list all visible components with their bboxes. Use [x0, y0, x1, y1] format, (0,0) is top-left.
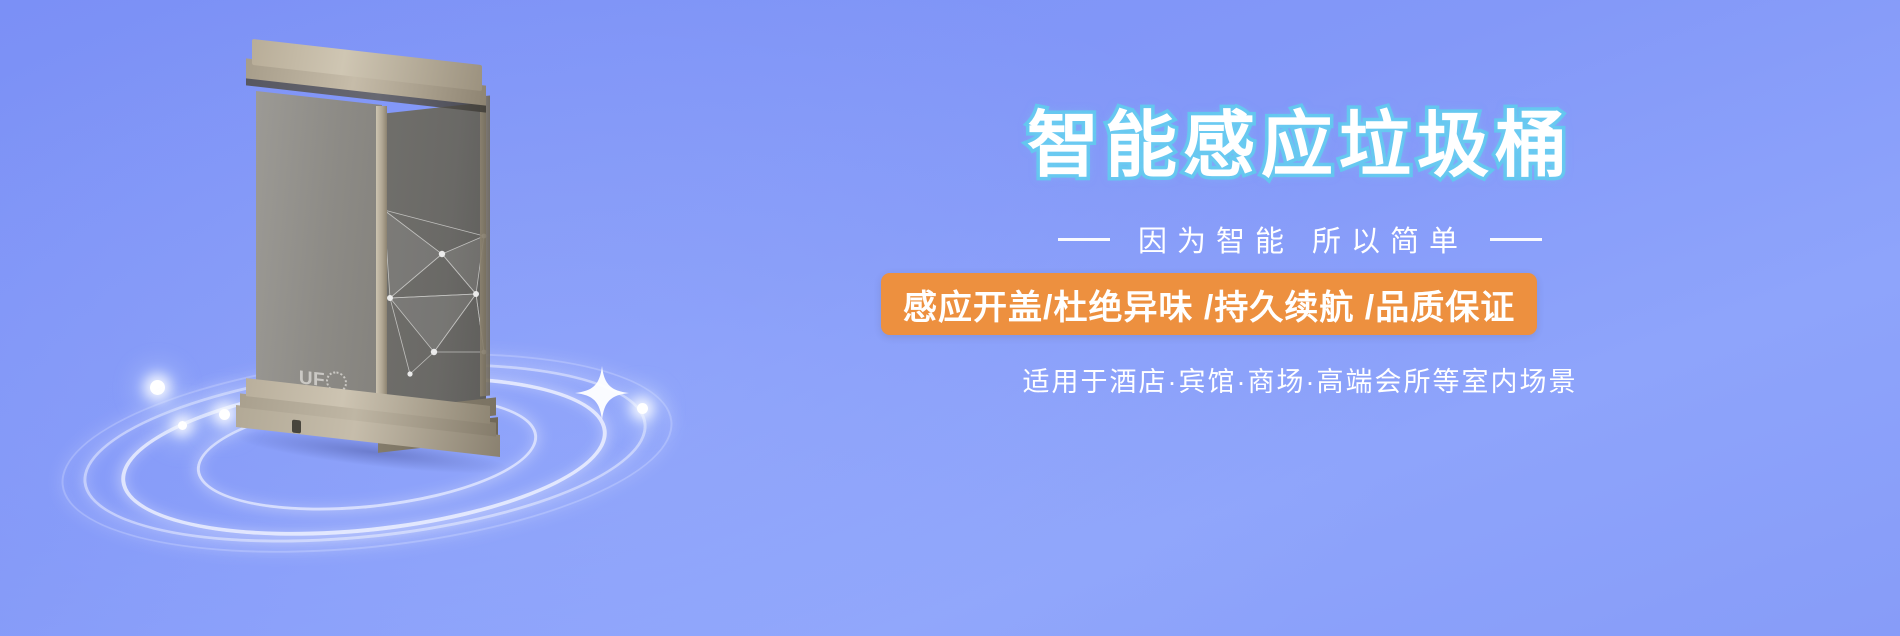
banner-copy-block: 智能感应垃圾桶 因为智能 所以简单 感应开盖/杜绝异味 /持久续航 /品质保证 …	[860, 0, 1900, 636]
rule-left-icon	[1058, 238, 1110, 241]
bin-right-bevel	[480, 95, 490, 396]
banner-headline: 智能感应垃圾桶	[860, 110, 1740, 182]
light-spark-icon	[178, 421, 187, 430]
smart-trash-bin-image: UF 智能 环保桶 INTELLIGENT ENVIRONMENTAL BIN	[228, 52, 528, 452]
light-spark-icon	[637, 403, 648, 414]
bin-left-bevel	[247, 95, 259, 398]
product-promo-banner: UF 智能 环保桶 INTELLIGENT ENVIRONMENTAL BIN …	[0, 0, 1900, 636]
usage-scenarios-text: 适用于酒店·宾馆·商场·高端会所等室内场景	[860, 360, 1740, 399]
subheadline-text: 因为智能 所以简单	[1132, 218, 1468, 260]
product-stage: UF 智能 环保桶 INTELLIGENT ENVIRONMENTAL BIN	[0, 0, 860, 636]
banner-subheadline: 因为智能 所以简单	[860, 218, 1740, 260]
feature-highlight-badge: 感应开盖/杜绝异味 /持久续航 /品质保证	[881, 273, 1537, 335]
bin-body-left-face	[256, 91, 382, 405]
bin-center-bevel	[376, 106, 387, 408]
low-poly-network-graphic	[380, 202, 492, 382]
light-spark-icon	[150, 380, 165, 395]
rule-right-icon	[1490, 238, 1542, 241]
bin-base-latch	[292, 419, 301, 433]
